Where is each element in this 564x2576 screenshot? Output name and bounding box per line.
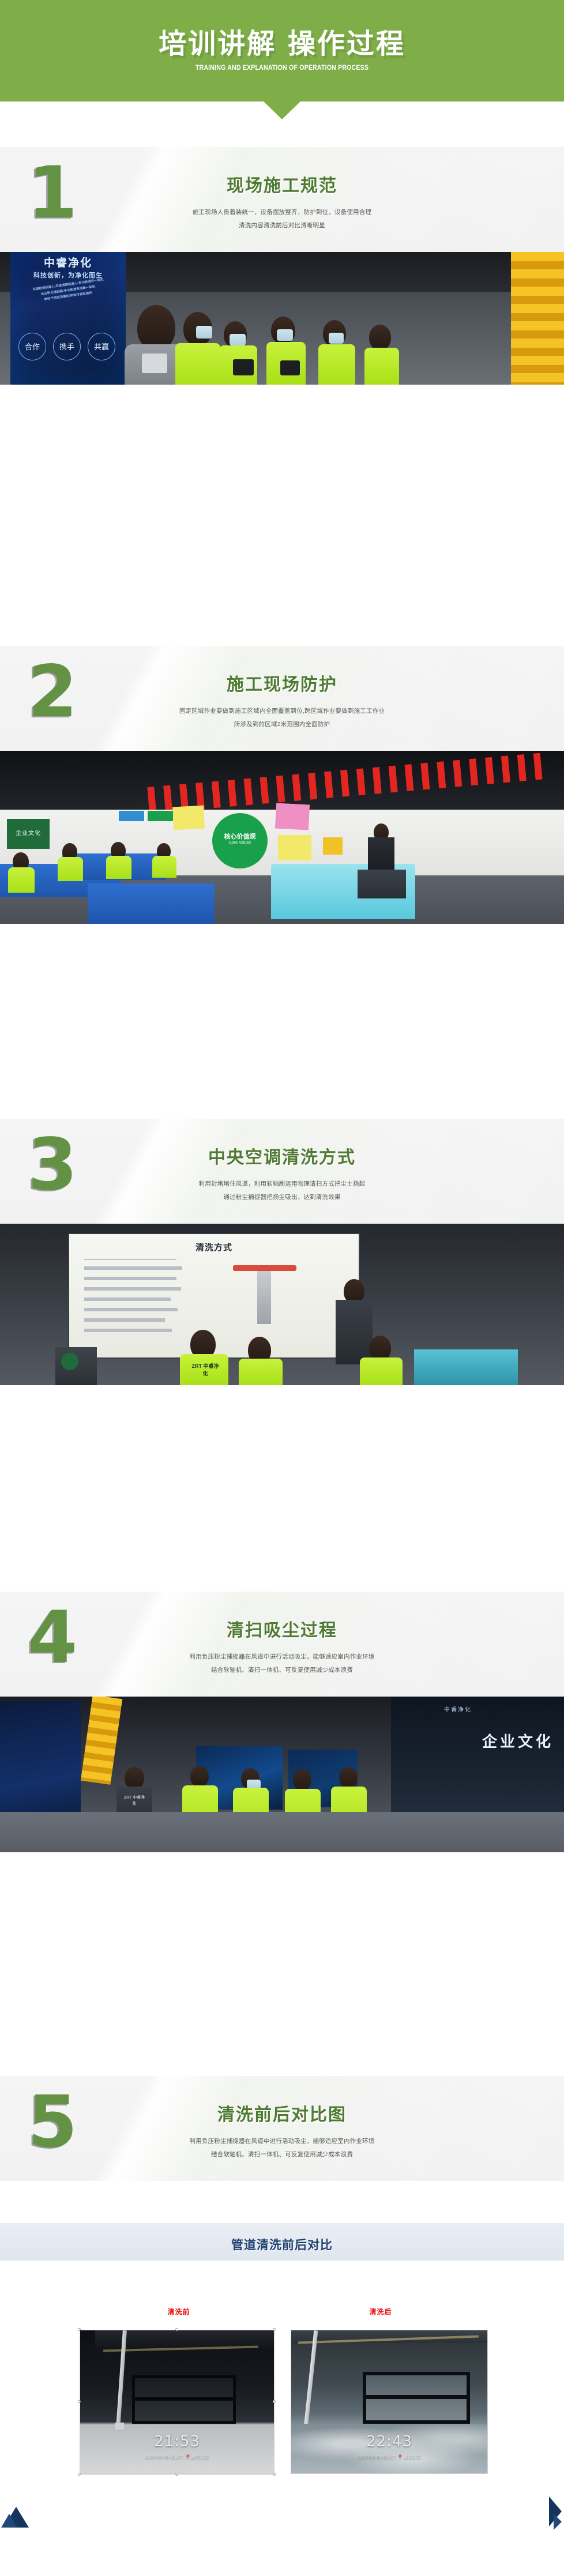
location-text-after: 我在这里	[403, 2454, 421, 2460]
selection-handle-tl[interactable]	[78, 2328, 81, 2331]
slide-line-4	[84, 1298, 171, 1301]
duct-before-rod-base	[115, 2423, 124, 2430]
sticky-note-3	[278, 835, 311, 860]
sticky-note-2	[275, 803, 310, 830]
section-1-title: 现场施工规范	[0, 171, 564, 197]
section-5-body: 清洗前后对比图 利用负压粉尘捕捉器在风道中进行活动吸尘，能够适应室内作业环境 结…	[0, 2076, 564, 2181]
slide-line-3	[84, 1287, 181, 1291]
section-2-header: 2 施工现场防护 固定区域作业要做到施工区域内全面覆盖到位,跨区域作业要做到施工…	[0, 646, 564, 751]
section-1-photo: 中睿净化 科技创新，为净化而生 风道检测机器人/风道清障机器人/多功能清污一体机…	[0, 252, 564, 385]
section-4-title: 清扫吸尘过程	[0, 1616, 564, 1641]
section-1: 1 现场施工规范 施工现场人员着装统一，设备摆放整齐，防护到位，设备使用合理 清…	[0, 147, 564, 385]
board-tag-2	[148, 811, 173, 821]
lectern-logo-icon	[61, 1353, 78, 1370]
section-2-body: 施工现场防护 固定区域作业要做到施工区域内全面覆盖到位,跨区域作业要做到施工工作…	[0, 646, 564, 751]
culture-wall-text: 企业文化	[482, 1730, 554, 1751]
section-2-photo: 企业文化 核心价值观 Core Values	[0, 751, 564, 924]
section-5-desc-line2: 结合软轴机、清扫一体机、可反复使用减少成本浪费	[0, 2148, 564, 2161]
corridor-floor	[0, 1812, 564, 1852]
trainee-vest-4	[152, 856, 176, 878]
decor-triangle-left-small	[1, 2514, 17, 2528]
worker-head-2	[190, 1766, 209, 1787]
section-3-description: 利用封堵堵住风道，利用软轴刷运用物理清扫方式把尘土扬起 通过粉尘捕捉器把扬尘吸出…	[0, 1178, 564, 1204]
banner-brand: 中睿净化	[10, 254, 126, 270]
section-2-title: 施工现场防护	[0, 670, 564, 695]
slide-line-7	[84, 1329, 172, 1332]
section-2-desc-line1: 固定区域作业要做到施工区域内全面覆盖到位,跨区域作业要做到施工工作业	[0, 705, 564, 718]
selection-handle-mr[interactable]	[273, 2400, 276, 2403]
section-3-title: 中央空调清洗方式	[0, 1143, 564, 1168]
selection-handle-tr[interactable]	[273, 2328, 276, 2331]
section-3-photo: 清洗方式 ZRT 中睿净化	[0, 1224, 564, 1385]
section-2: 2 施工现场防护 固定区域作业要做到施工区域内全面覆盖到位,跨区域作业要做到施工…	[0, 646, 564, 924]
slide-line-1	[84, 1266, 182, 1270]
duct-after-crossbar	[365, 2395, 468, 2399]
section-1-desc-line1: 施工现场人员着装统一，设备摆放整齐，防护到位，设备使用合理	[0, 206, 564, 219]
culture-sign: 企业文化	[7, 819, 50, 849]
presenter-body	[368, 837, 394, 871]
page-title: 培训讲解 操作过程	[0, 21, 564, 61]
section-4: 4 清扫吸尘过程 利用负压粉尘捕捉器在风道中进行活动吸尘，能够适应室内作业环境 …	[0, 1592, 564, 1852]
section-1-body: 现场施工规范 施工现场人员着装统一，设备摆放整齐，防护到位，设备使用合理 清洗内…	[0, 147, 564, 252]
worker-badge-1: ZRT 中睿净化	[123, 1795, 145, 1803]
section-3-desc-line2: 通过粉尘捕捉器把扬尘吸出，达到清洗效果	[0, 1191, 564, 1204]
person-vest-2	[175, 343, 220, 385]
audience-vest-3	[360, 1357, 403, 1385]
person-vest-6	[364, 348, 399, 385]
selection-line-bottom	[80, 2474, 275, 2475]
slide-rule	[84, 1259, 176, 1260]
section-3-body: 中央空调清洗方式 利用封堵堵住风道，利用软轴刷运用物理清扫方式把尘土扬起 通过粉…	[0, 1119, 564, 1224]
person-vest-5	[318, 344, 355, 385]
datestamp-before: 2020-08-08 星期六 📍我在这里	[80, 2454, 274, 2460]
section-1-header: 1 现场施工规范 施工现场人员着装统一，设备摆放整齐，防护到位，设备使用合理 清…	[0, 147, 564, 252]
section-2-desc-line2: 所涉及到的区域2米范围内全面防护	[0, 718, 564, 731]
comparison-title: 管道清洗前后对比	[0, 2236, 564, 2253]
slide-line-5	[84, 1308, 178, 1311]
trainee-vest-2	[58, 857, 83, 881]
section-5-header: 5 清洗前后对比图 利用负压粉尘捕捉器在风道中进行活动吸尘，能够适应室内作业环境…	[0, 2076, 564, 2181]
section-2-description: 固定区域作业要做到施工区域内全面覆盖到位,跨区域作业要做到施工工作业 所涉及到的…	[0, 705, 564, 731]
face-mask-5	[329, 333, 344, 344]
section-5-desc-line1: 利用负压粉尘捕捉器在风道中进行活动吸尘，能够适应室内作业环境	[0, 2135, 564, 2148]
yellow-duct-hose	[511, 252, 564, 385]
section-3-desc-line1: 利用封堵堵住风道，利用软轴刷运用物理清扫方式把尘土扬起	[0, 1178, 564, 1191]
section-4-photo: 企业文化 中睿净化 ZRT 中睿净化	[0, 1697, 564, 1852]
hero-arrow-icon	[264, 101, 300, 119]
trainee-vest-1	[8, 867, 35, 893]
audience-vest-2	[239, 1359, 283, 1385]
page-root: 培训讲解 操作过程 TRAINING AND EXPLANATION OF OP…	[0, 0, 564, 2576]
slide-line-6	[84, 1318, 165, 1322]
core-values-circle: 核心价值观 Core Values	[212, 813, 268, 868]
culture-wall-brand: 中睿净化	[444, 1705, 472, 1713]
slide-title: 清洗方式	[69, 1241, 359, 1253]
worker-head-4	[293, 1769, 311, 1790]
slide-line-2	[84, 1277, 176, 1280]
slide-diagram-bar	[233, 1265, 296, 1271]
person-head-6	[369, 325, 391, 350]
section-4-desc-line2: 结合软轴机、清扫一体机、可反复使用减少成本浪费	[0, 1664, 564, 1677]
section-3-header: 3 中央空调清洗方式 利用封堵堵住风道，利用软轴刷运用物理清扫方式把尘土扬起 通…	[0, 1119, 564, 1224]
timestamp-before: 21:53	[80, 2433, 274, 2450]
face-mask-3	[230, 334, 246, 345]
trainee-vest-3	[106, 856, 131, 879]
worker-head-5	[339, 1767, 358, 1788]
section-5-title: 清洗前后对比图	[0, 2100, 564, 2126]
duct-before-crossbar	[135, 2397, 233, 2401]
section-1-description: 施工现场人员着装统一，设备摆放整齐，防护到位，设备使用合理 清洗内容清洗前后对比…	[0, 206, 564, 232]
location-pin-icon-before: 📍	[185, 2454, 191, 2460]
tablet-1	[233, 359, 254, 375]
banner-circle-1: 合作	[18, 333, 46, 360]
decor-triangle-right-small	[554, 2514, 562, 2530]
section-5: 5 清洗前后对比图 利用负压粉尘捕捉器在风道中进行活动吸尘，能够适应室内作业环境…	[0, 2076, 564, 2181]
section-3: 3 中央空调清洗方式 利用封堵堵住风道，利用软轴刷运用物理清扫方式把尘土扬起 通…	[0, 1119, 564, 1385]
demo-presenter-body	[336, 1300, 373, 1364]
page-subtitle: TRAINING AND EXPLANATION OF OPERATION PR…	[22, 65, 542, 72]
section-4-desc-line1: 利用负压粉尘捕捉器在风道中进行活动吸尘，能够适应室内作业环境	[0, 1650, 564, 1664]
section-5-description: 利用负压粉尘捕捉器在风道中进行活动吸尘，能够适应室内作业环境 结合软轴机、清扫一…	[0, 2135, 564, 2161]
exhibition-banner: 中睿净化 科技创新，为净化而生 风道检测机器人/风道清障机器人/多功能清污一体机…	[10, 252, 126, 385]
label-after: 清洗后	[346, 2307, 415, 2316]
worker-head-1	[125, 1767, 144, 1789]
vest-brand-label: ZRT 中睿净化	[190, 1362, 220, 1371]
slide-diagram-tube	[257, 1271, 271, 1324]
face-mask-4	[277, 329, 293, 341]
location-pin-icon-after: 📍	[397, 2454, 403, 2460]
face-mask-2	[196, 326, 212, 339]
banner-circle-2: 携手	[53, 333, 81, 360]
label-before: 清洗前	[144, 2307, 213, 2316]
person-head-1	[137, 305, 175, 350]
section-1-desc-line2: 清洗内容清洗前后对比清晰明显	[0, 219, 564, 232]
location-text-before: 我在这里	[191, 2454, 209, 2460]
core-values-en: Core Values	[212, 841, 268, 845]
datestamp-after: 2020-08-08 星期六 📍我在这里	[291, 2454, 487, 2460]
timestamp-after: 22:43	[291, 2433, 487, 2450]
training-table-3	[88, 883, 215, 924]
photo-before-cleaning: 21:53 2020-08-08 星期六 📍我在这里	[80, 2330, 275, 2474]
side-table	[414, 1349, 518, 1385]
datestamp-after-date: 2020-08-08 星期六	[358, 2454, 396, 2460]
selection-handle-ml[interactable]	[78, 2400, 81, 2403]
datestamp-before-date: 2020-08-08 星期六	[145, 2454, 184, 2460]
section-4-header: 4 清扫吸尘过程 利用负压粉尘捕捉器在风道中进行活动吸尘，能够适应室内作业环境 …	[0, 1592, 564, 1697]
selection-handle-tc[interactable]	[175, 2328, 178, 2331]
photo-after-cleaning: 22:43 2020-08-08 星期六 📍我在这里	[291, 2330, 488, 2474]
board-tag-1	[119, 811, 144, 821]
clipboard-1	[142, 354, 167, 373]
banner-circle-3: 共赢	[88, 333, 115, 360]
section-4-body: 清扫吸尘过程 利用负压粉尘捕捉器在风道中进行活动吸尘，能够适应室内作业环境 结合…	[0, 1592, 564, 1697]
sticky-note-1	[172, 806, 205, 830]
core-values-cn: 核心价值观	[212, 832, 268, 841]
tablet-2	[280, 360, 300, 375]
section-4-description: 利用负压粉尘捕捉器在风道中进行活动吸尘，能够适应室内作业环境 结合软轴机、清扫一…	[0, 1650, 564, 1677]
sticky-note-4	[323, 837, 343, 855]
podium	[358, 870, 406, 898]
